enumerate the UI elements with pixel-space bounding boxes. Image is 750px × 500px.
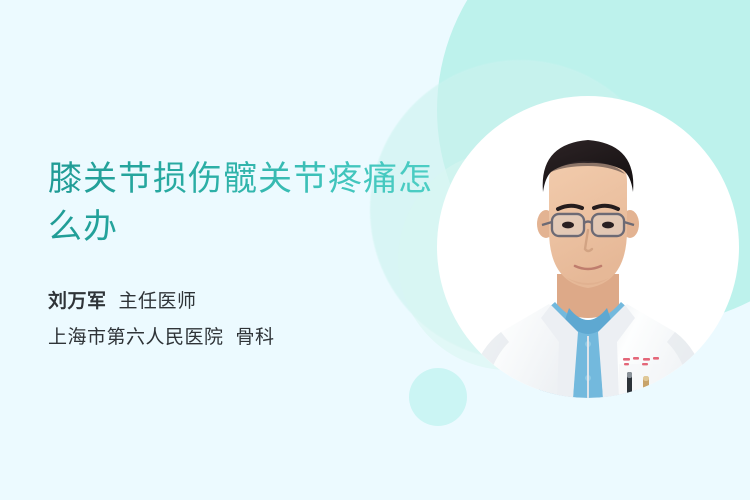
doctor-affiliation: 上海市第六人民医院骨科 <box>48 323 438 353</box>
department-name: 骨科 <box>236 327 275 348</box>
page-title: 膝关节损伤髋关节疼痛怎么办 <box>48 155 438 251</box>
doctor-byline: 刘万军主任医师 <box>48 287 438 317</box>
text-column: 膝关节损伤髋关节疼痛怎么办 刘万军主任医师 上海市第六人民医院骨科 <box>48 155 438 353</box>
medical-content-card: 膝关节损伤髋关节疼痛怎么办 刘万军主任医师 上海市第六人民医院骨科 <box>0 0 750 500</box>
portrait-plate <box>437 96 739 398</box>
hospital-name: 上海市第六人民医院 <box>48 327 224 348</box>
doctor-title: 主任医师 <box>119 291 197 312</box>
doctor-name: 刘万军 <box>48 291 107 312</box>
doctor-portrait <box>437 96 739 398</box>
